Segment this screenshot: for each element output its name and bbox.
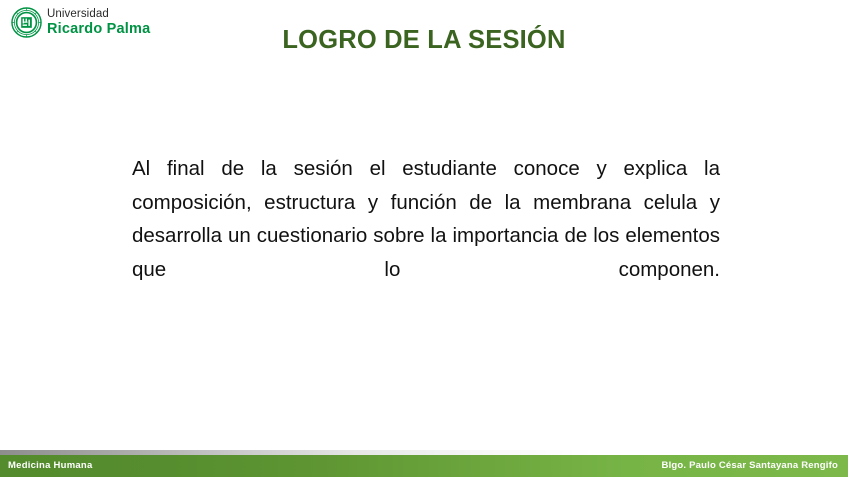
logo-line-universidad: Universidad <box>47 9 150 21</box>
learning-outcome-paragraph: Al final de la sesión el estudiante cono… <box>132 152 720 320</box>
footer-author-label: Blgo. Paulo César Santayana Rengifo <box>662 455 838 477</box>
slide-canvas: Universidad Ricardo Palma LOGRO DE LA SE… <box>0 0 848 477</box>
footer-bar: Medicina Humana Blgo. Paulo César Santay… <box>0 455 848 477</box>
page-title: LOGRO DE LA SESIÓN <box>0 26 848 55</box>
content-body: Al final de la sesión el estudiante cono… <box>132 152 720 320</box>
footer-program-label: Medicina Humana <box>8 455 93 477</box>
